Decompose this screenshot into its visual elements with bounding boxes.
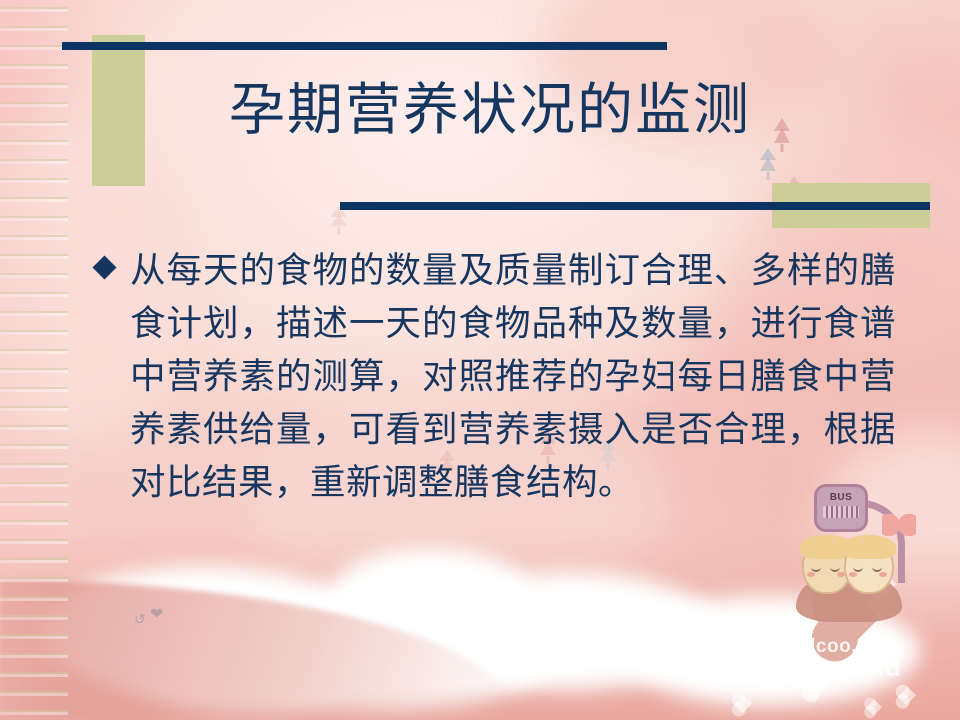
charm-eye [811,566,821,572]
olive-accent-bar-left [92,35,145,186]
charm-bus-sign: BUS [814,484,868,532]
bullet-item-text: 从每天的食物的数量及质量制订合理、多样的膳食计划，描述一天的食物品种及数量，进行… [130,244,896,509]
navy-rule-top [62,42,667,50]
charm-hair [842,535,896,559]
charm-cheek [879,572,887,577]
bullet-item: 从每天的食物的数量及质量制订合理、多样的膳食计划，描述一天的食物品种及数量，进行… [96,244,896,509]
charm-eye [872,566,882,572]
watermark-figure-head [861,642,869,650]
cyworld-charm-illustration: BUS [786,482,916,632]
charm-character-right [844,538,894,594]
charm-cheek [807,572,815,577]
watermark: 사이좋은 사람들, 싸이월드 wallcoo.com cyworld [734,636,954,688]
watermark-brand: cyworld [800,654,901,683]
watermark-figure-icon [860,642,870,668]
charm-bus-sign-label: BUS [817,492,865,503]
charm-eye [830,566,840,572]
presentation-slide: 孕期营养状况的监测 从每天的食物的数量及质量制订合理、多样的膳食计划，描述一天的… [0,0,960,720]
diamond-bullet-icon [92,255,116,279]
charm-cheek [849,572,857,577]
watermark-figure-body [863,651,867,668]
charm-bus-sign-grill [823,506,859,518]
charm-bow-icon [882,514,916,536]
slide-body: 从每天的食物的数量及质量制订合理、多样的膳食计划，描述一天的食物品种及数量，进行… [96,244,896,509]
navy-rule-bottom [340,202,930,210]
charm-eye [853,566,863,572]
slide-title: 孕期营养状况的监测 [140,78,840,144]
